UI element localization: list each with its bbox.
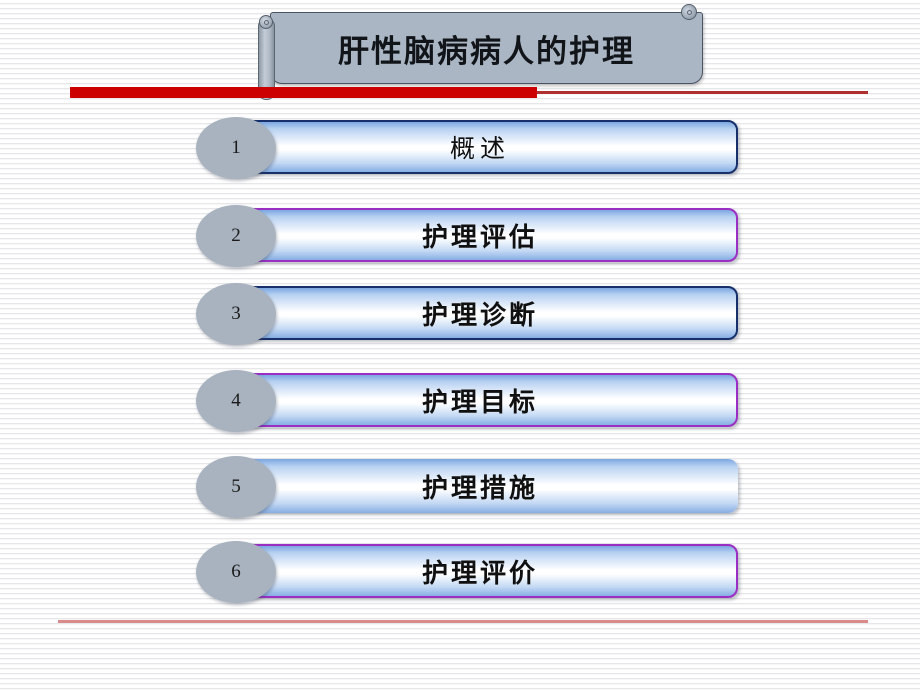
title-banner: 肝性脑病病人的护理 [258, 12, 703, 84]
agenda-row[interactable]: 护理措施 5 [196, 456, 738, 518]
agenda-item-label: 护理措施 [222, 459, 738, 513]
bottom-rule [58, 620, 868, 623]
agenda-item-number: 5 [196, 456, 276, 518]
agenda-item-label: 护理目标 [222, 373, 738, 427]
agenda-item-label: 护理诊断 [222, 286, 738, 340]
agenda-row[interactable]: 护理目标 4 [196, 370, 738, 432]
agenda-item-label: 概述 [222, 120, 738, 174]
slide-canvas: 肝性脑病病人的护理 概述 1 护理评估 2 护理诊断 3 护理目标 4 护理措施… [0, 0, 920, 690]
agenda-row[interactable]: 护理诊断 3 [196, 283, 738, 345]
agenda-row[interactable]: 概述 1 [196, 117, 738, 179]
agenda-row[interactable]: 护理评估 2 [196, 205, 738, 267]
agenda-item-label: 护理评估 [222, 208, 738, 262]
agenda-item-number: 2 [196, 205, 276, 267]
agenda-row[interactable]: 护理评价 6 [196, 541, 738, 603]
agenda-item-number: 4 [196, 370, 276, 432]
page-title: 肝性脑病病人的护理 [270, 12, 703, 84]
agenda-item-label: 护理评价 [222, 544, 738, 598]
agenda-item-number: 6 [196, 541, 276, 603]
accent-rule-thick [70, 87, 537, 98]
agenda-item-number: 1 [196, 117, 276, 179]
agenda-item-number: 3 [196, 283, 276, 345]
